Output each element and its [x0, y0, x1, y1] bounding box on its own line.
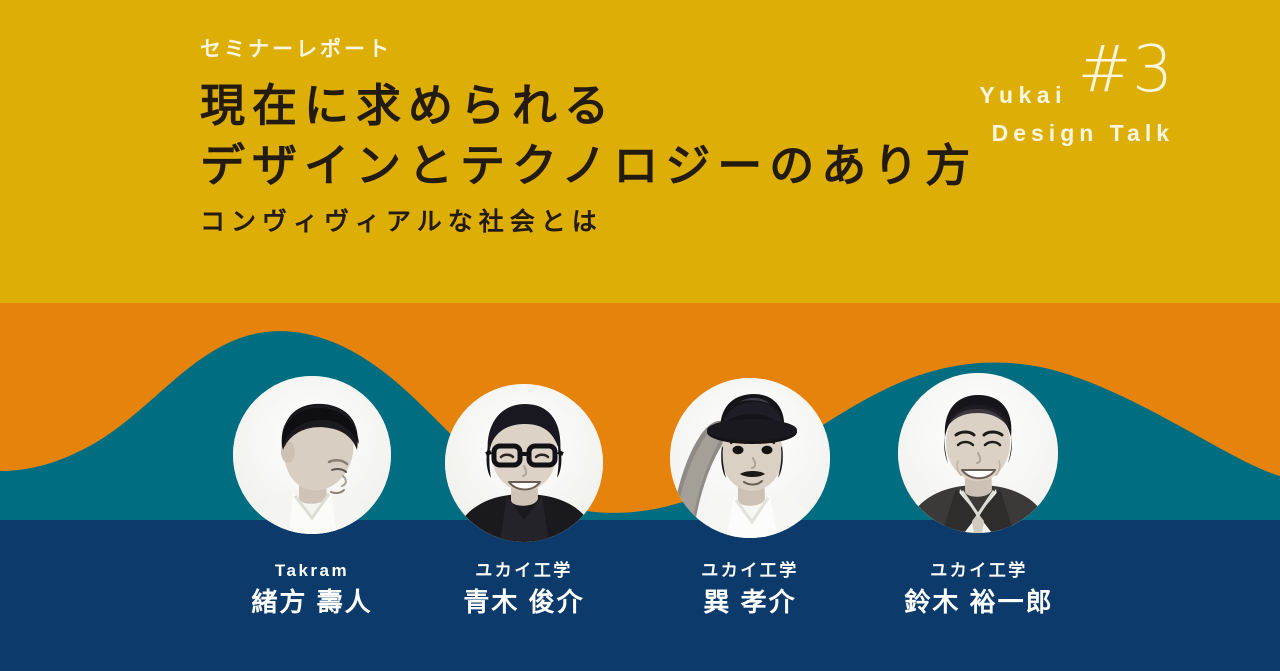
brand-name-line-1: Yukai: [979, 84, 1067, 107]
speaker-label-4: ユカイ工学 鈴木 裕一郎: [883, 562, 1075, 616]
speaker-name-3: 巽 孝介: [660, 588, 840, 617]
page-title-line-2: デザインとテクノロジーのあり方: [200, 136, 920, 196]
speaker-name-2: 青木 俊介: [434, 588, 614, 617]
portrait-suzuki-icon: [898, 373, 1058, 533]
portrait-ogata-icon: [233, 376, 391, 534]
speaker-label-2: ユカイ工学 青木 俊介: [434, 562, 614, 616]
issue-number: #3: [1078, 38, 1174, 102]
speaker-label-3: ユカイ工学 巽 孝介: [660, 562, 840, 616]
speaker-name-4: 鈴木 裕一郎: [883, 588, 1075, 617]
speaker-org-2: ユカイ工学: [434, 562, 614, 581]
brand-name-line-2: Design Talk: [992, 122, 1174, 145]
eyebrow-label: セミナーレポート: [200, 38, 920, 61]
avatar-speaker-4: [898, 373, 1058, 533]
speaker-org-3: ユカイ工学: [660, 562, 840, 581]
avatar-speaker-1: [233, 376, 391, 534]
speaker-org-4: ユカイ工学: [883, 562, 1075, 581]
speaker-name-1: 緒方 壽人: [222, 588, 402, 617]
portrait-aoki-icon: [445, 384, 603, 542]
speaker-org-1: Takram: [222, 562, 402, 581]
avatar-speaker-3: [670, 378, 830, 538]
navy-band: [0, 520, 1280, 671]
speaker-label-1: Takram 緒方 壽人: [222, 562, 402, 616]
avatar-speaker-2: [445, 384, 603, 542]
portrait-tatsumi-icon: [670, 378, 830, 538]
wave-illustration: [0, 303, 1280, 671]
headline-block: セミナーレポート 現在に求められる デザインとテクノロジーのあり方 コンヴィヴィ…: [200, 38, 920, 237]
page-title-line-1: 現在に求められる: [200, 76, 920, 136]
seminar-report-banner: セミナーレポート 現在に求められる デザインとテクノロジーのあり方 コンヴィヴィ…: [0, 0, 1280, 671]
wave-graphic-area: [0, 303, 1280, 671]
page-subtitle: コンヴィヴィアルな社会とは: [200, 207, 920, 237]
